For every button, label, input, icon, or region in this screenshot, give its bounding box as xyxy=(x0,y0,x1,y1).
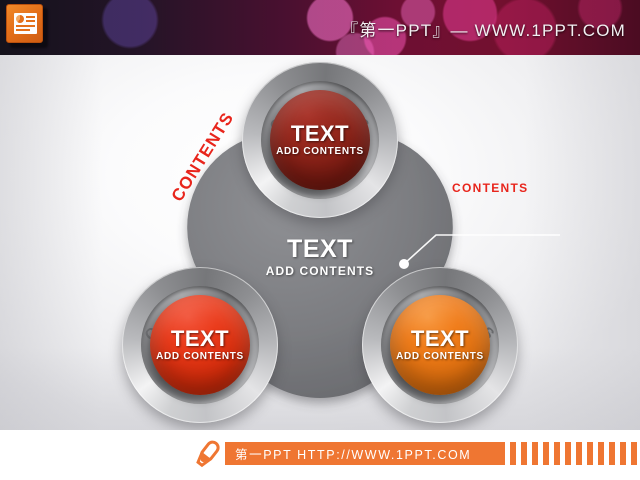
node-top-sub-text: ADD CONTENTS xyxy=(276,147,364,157)
node-bottom-left[interactable]: CONTENTS TEXT ADD CONTENTS xyxy=(122,267,278,423)
logo-body xyxy=(6,4,43,43)
node-br-sub-text: ADD CONTENTS xyxy=(396,352,484,362)
footer-url-bar: 第一PPT HTTP://WWW.1PPT.COM xyxy=(225,442,505,465)
footer-stripes xyxy=(510,442,640,465)
site-footer: 第一PPT HTTP://WWW.1PPT.COM xyxy=(0,430,640,480)
site-header: 『第一PPT』— WWW.1PPT.COM xyxy=(0,0,640,55)
node-bottom-right[interactable]: CONTENTS TEXT ADD CONTENTS xyxy=(362,267,518,423)
callout-label: CONTENTS xyxy=(452,181,528,195)
powerpoint-icon xyxy=(6,4,48,48)
slide-canvas: 『第一PPT』— WWW.1PPT.COM xyxy=(0,0,640,480)
pencil-icon xyxy=(192,438,222,470)
node-br-main-text: TEXT xyxy=(411,328,469,350)
logo-page-glyph xyxy=(14,13,37,34)
three-circle-diagram: TEXT ADD CONTENTS CONTENTS CONTENTS CONT… xyxy=(0,55,640,430)
node-bl-disc[interactable]: TEXT ADD CONTENTS xyxy=(150,295,250,395)
diagram-background: TEXT ADD CONTENTS CONTENTS CONTENTS CONT… xyxy=(0,55,640,430)
hub-main-text: TEXT xyxy=(230,237,410,262)
node-br-disc[interactable]: TEXT ADD CONTENTS xyxy=(390,295,490,395)
node-bl-sub-text: ADD CONTENTS xyxy=(156,352,244,362)
node-top-disc[interactable]: TEXT ADD CONTENTS xyxy=(270,90,370,190)
node-top-main-text: TEXT xyxy=(291,123,349,145)
footer-url-text: 第一PPT HTTP://WWW.1PPT.COM xyxy=(235,444,471,463)
node-bl-main-text: TEXT xyxy=(171,328,229,350)
header-title: 『第一PPT』— WWW.1PPT.COM xyxy=(341,16,626,41)
node-top[interactable]: CONTENTS TEXT ADD CONTENTS xyxy=(242,62,398,218)
